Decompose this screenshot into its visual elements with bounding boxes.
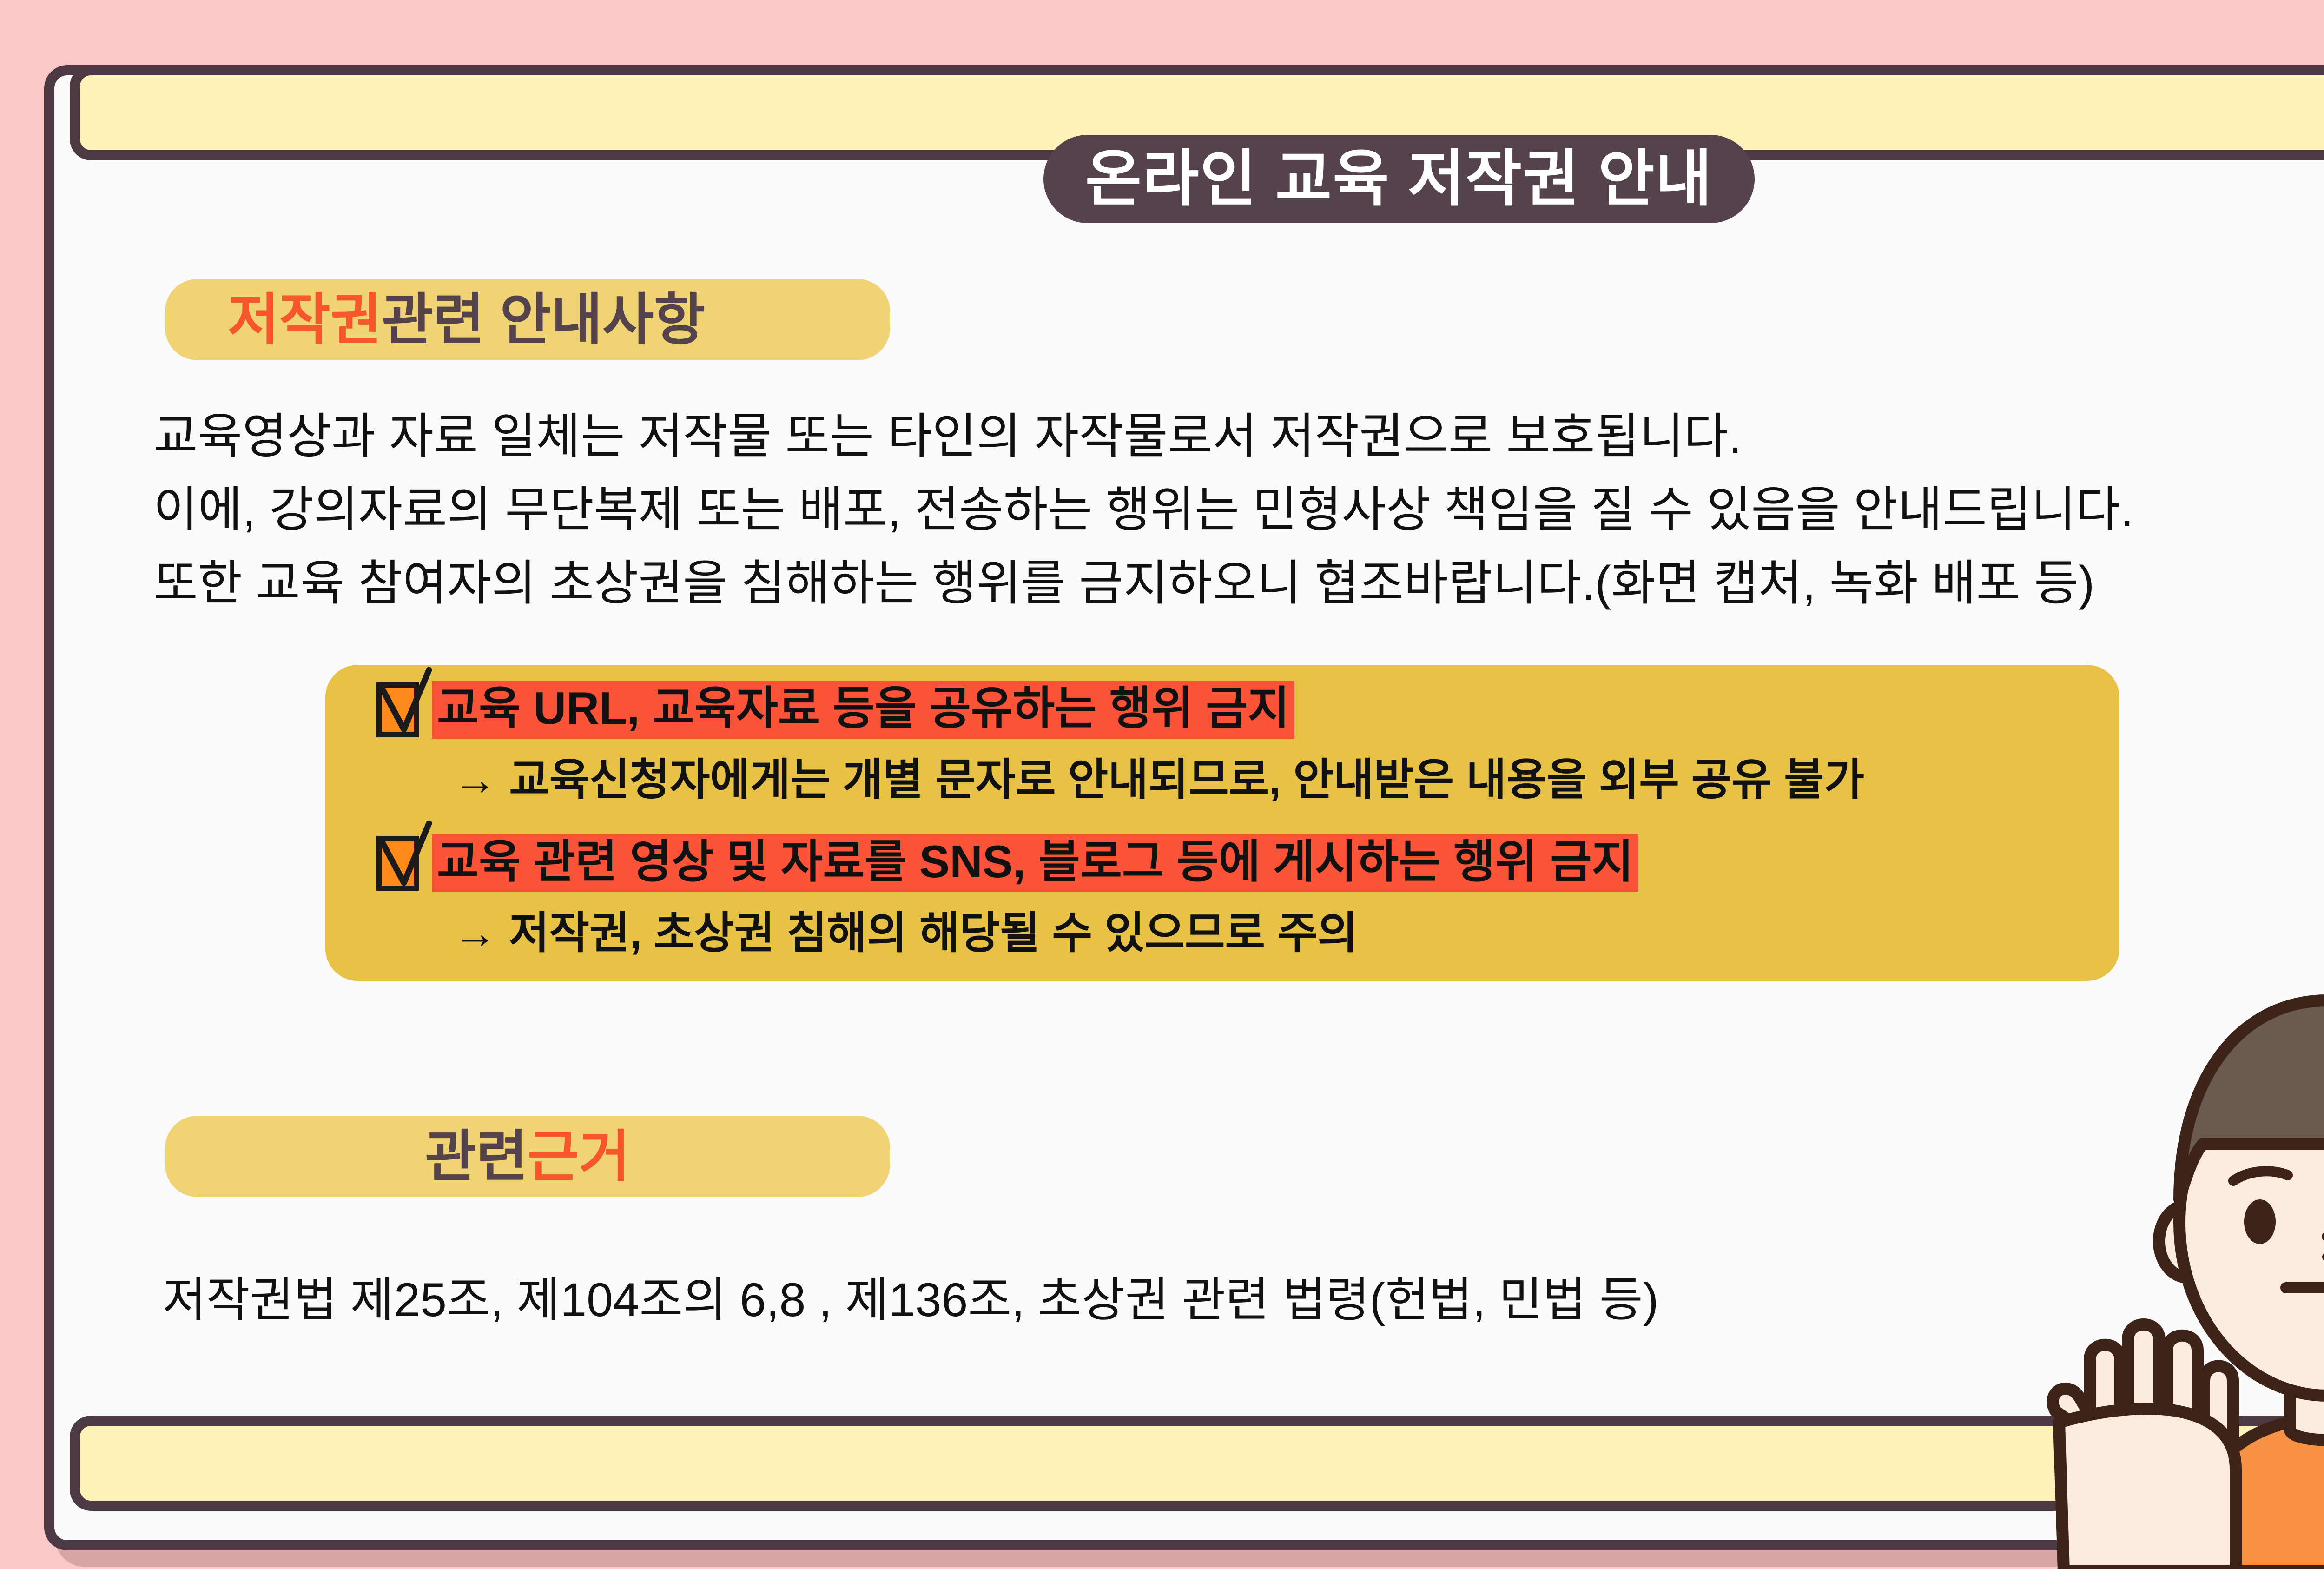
- notice-badge-accent: 저작권: [228, 292, 382, 348]
- checklist-item-1-title: 교육 URL, 교육자료 등을 공유하는 행위 금지: [432, 681, 1294, 739]
- notice-paragraph: 교육영상과 자료 일체는 저작물 또는 타인의 자작물로서 저작권으로 보호됩니…: [153, 400, 2134, 620]
- checkbox-checked-icon[interactable]: [376, 836, 419, 891]
- checklist-item-1-detail: → 교육신청자에게는 개별 문자로 안내되므로, 안내받은 내용을 외부 공유 …: [453, 758, 1864, 801]
- page-title: 온라인 교육 저작권 안내: [1043, 135, 1755, 223]
- page-title-text: 온라인 교육 저작권 안내: [1085, 148, 1713, 210]
- checklist-item-2-title: 교육 관련 영상 및 자료를 SNS, 블로그 등에 게시하는 행위 금지: [432, 834, 1638, 892]
- basis-badge-plain: 관련: [425, 1129, 528, 1185]
- notice-badge-plain: 관련 안내사항: [382, 292, 705, 348]
- board-rail-bottom: [70, 1416, 2324, 1511]
- paragraph-line-3: 또한 교육 참여자의 초상권을 침해하는 행위를 금지하오니 협조바랍니다.(화…: [153, 547, 2134, 620]
- boy-stop-gesture-illustration: [2045, 939, 2324, 1569]
- poster-canvas: 온라인 교육 저작권 안내 저작권 관련 안내사항 교육영상과 자료 일체는 저…: [0, 0, 2324, 1569]
- checklist-item-1[interactable]: 교육 URL, 교육자료 등을 공유하는 행위 금지: [376, 681, 1294, 739]
- alarm-siren-icon: [2305, 181, 2324, 428]
- basis-badge-accent: 근거: [528, 1129, 630, 1185]
- checklist-item-2-detail: → 저작권, 초상권 침해의 해당될 수 있으므로 주의: [453, 911, 1358, 955]
- checklist-panel: 교육 URL, 교육자료 등을 공유하는 행위 금지 → 교육신청자에게는 개별…: [325, 665, 2119, 981]
- notice-section-badge: 저작권 관련 안내사항: [165, 279, 890, 360]
- checklist-item-2[interactable]: 교육 관련 영상 및 자료를 SNS, 블로그 등에 게시하는 행위 금지: [376, 834, 1638, 892]
- checkbox-checked-icon[interactable]: [376, 682, 419, 737]
- legal-citation: 저작권법 제25조, 제104조의 6,8 , 제136조, 초상권 관련 법령…: [163, 1276, 1659, 1324]
- paragraph-line-2: 이에, 강의자료의 무단복제 또는 배포, 전송하는 행위는 민형사상 책임을 …: [153, 473, 2134, 547]
- basis-section-badge: 관련 근거: [165, 1116, 890, 1197]
- paragraph-line-1: 교육영상과 자료 일체는 저작물 또는 타인의 자작물로서 저작권으로 보호됩니…: [153, 400, 2134, 473]
